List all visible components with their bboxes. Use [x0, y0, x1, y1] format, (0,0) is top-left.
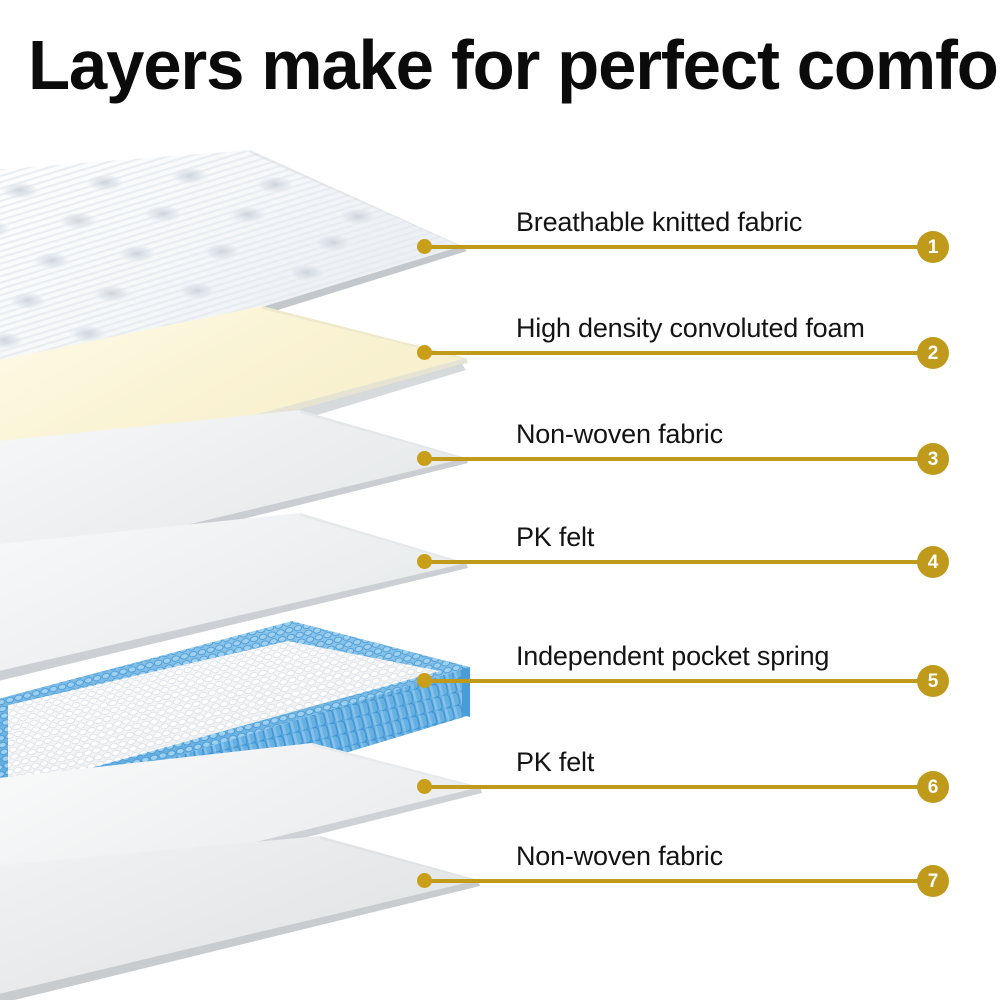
callout-leader-line-1 [424, 245, 919, 249]
callout-badge-6[interactable]: 6 [917, 771, 949, 803]
page-title: Layers make for perfect comfort [28, 30, 964, 100]
callout-leader-dot-2 [417, 345, 432, 360]
callout-badge-1[interactable]: 1 [917, 231, 949, 263]
callout-badge-5[interactable]: 5 [917, 665, 949, 697]
callout-leader-line-4 [424, 560, 919, 564]
callout-leader-dot-4 [417, 554, 432, 569]
callout-leader-line-6 [424, 785, 919, 789]
layer-breathable-knitted-fabric [0, 150, 470, 420]
callout-leader-dot-3 [417, 451, 432, 466]
layer-high-density-convoluted-foam [0, 300, 470, 520]
callout-badge-3[interactable]: 3 [917, 443, 949, 475]
callout-leader-dot-7 [417, 873, 432, 888]
callout-leader-dot-5 [417, 673, 432, 688]
callout-badge-7[interactable]: 7 [917, 865, 949, 897]
callout-label-2: High density convoluted foam [516, 313, 865, 343]
callout-label-4: PK felt [516, 522, 594, 552]
callout-badge-4[interactable]: 4 [917, 546, 949, 578]
layer-non-woven-fabric-top [0, 400, 470, 590]
callout-badge-2[interactable]: 2 [917, 337, 949, 369]
layer-pk-felt-top [0, 505, 470, 695]
callout-leader-dot-1 [417, 239, 432, 254]
callout-label-7: Non-woven fabric [516, 841, 723, 871]
layer-pk-felt-bottom [0, 735, 490, 935]
callout-leader-line-7 [424, 879, 919, 883]
layer-non-woven-fabric-bottom [0, 830, 490, 1000]
infographic-canvas: Layers make for perfect comfort [0, 0, 1000, 1000]
callout-label-5: Independent pocket spring [516, 641, 829, 671]
callout-leader-dot-6 [417, 779, 432, 794]
callout-label-3: Non-woven fabric [516, 419, 723, 449]
callout-label-6: PK felt [516, 747, 594, 777]
callout-leader-line-2 [424, 351, 919, 355]
callout-leader-line-5 [424, 679, 919, 683]
callout-leader-line-3 [424, 457, 919, 461]
layer-independent-pocket-spring [0, 605, 500, 865]
callout-label-1: Breathable knitted fabric [516, 207, 802, 237]
